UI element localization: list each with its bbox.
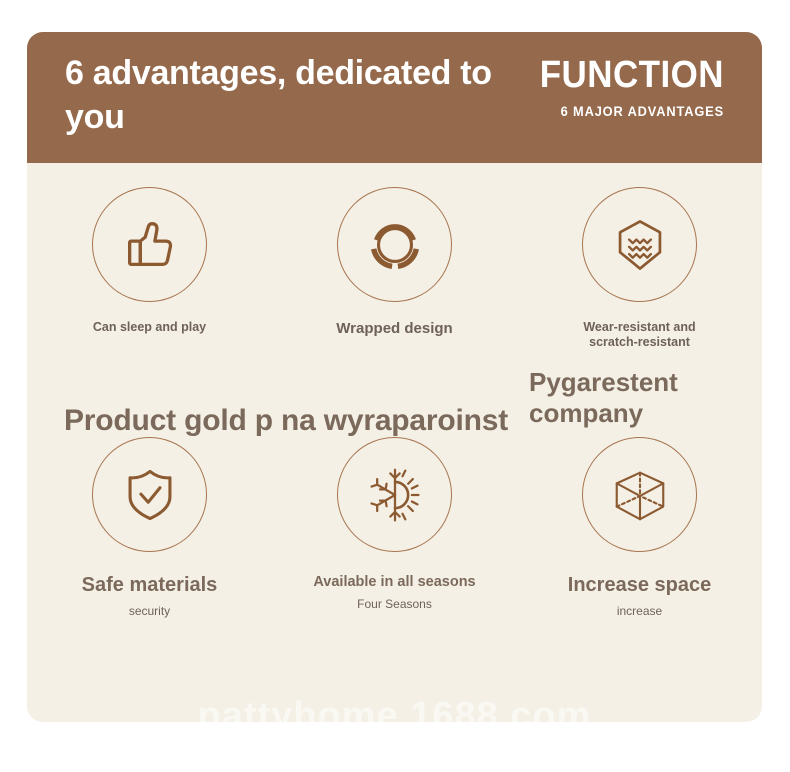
function-title: FUNCTION bbox=[503, 56, 724, 94]
feature-item-safe-materials: Safe materials security bbox=[27, 437, 272, 618]
overlay-headline-right: Pygarestent company bbox=[529, 367, 734, 428]
shield-check-icon-container bbox=[92, 437, 207, 552]
hexagon-shield-waves-icon bbox=[611, 216, 669, 274]
feature-subcaption: increase bbox=[617, 604, 662, 618]
thumbs-up-icon-container bbox=[92, 187, 207, 302]
feature-caption: Increase space bbox=[568, 574, 711, 598]
infographic-card: 6 advantages, dedicated to you FUNCTION … bbox=[27, 32, 762, 722]
feature-caption: Safe materials bbox=[82, 574, 218, 598]
feature-row-top: Can sleep and play Wrapped design bbox=[27, 187, 762, 350]
feature-caption: Available in all seasons bbox=[313, 574, 475, 591]
segmented-ring-icon bbox=[364, 214, 426, 276]
feature-subcaption: Four Seasons bbox=[357, 597, 432, 611]
overlay-headline-left: Product gold p na wyraparoinst bbox=[64, 404, 508, 438]
feature-item-all-seasons: Available in all seasons Four Seasons bbox=[272, 437, 517, 618]
wireframe-cube-icon bbox=[609, 464, 671, 526]
feature-item-wear-resistant: Wear-resistant and scratch-resistant bbox=[517, 187, 762, 350]
wireframe-cube-icon-container bbox=[582, 437, 697, 552]
shield-check-icon bbox=[121, 466, 179, 524]
feature-subcaption: security bbox=[129, 604, 170, 618]
feature-caption: Wear-resistant and scratch-resistant bbox=[583, 320, 695, 350]
card-header: 6 advantages, dedicated to you FUNCTION … bbox=[27, 32, 762, 163]
feature-caption: Wrapped design bbox=[336, 320, 452, 338]
watermark-text: pattyhome 1688.com bbox=[198, 695, 592, 722]
feature-row-bottom: Safe materials security bbox=[27, 437, 762, 618]
page-title: 6 advantages, dedicated to you bbox=[65, 52, 535, 139]
feature-caption: Can sleep and play bbox=[93, 320, 206, 335]
sun-snowflake-icon-container bbox=[337, 437, 452, 552]
header-right-block: FUNCTION 6 MAJOR ADVANTAGES bbox=[484, 56, 724, 119]
segmented-ring-icon-container bbox=[337, 187, 452, 302]
sun-snowflake-icon bbox=[365, 465, 425, 525]
feature-item-wrapped-design: Wrapped design bbox=[272, 187, 517, 350]
function-subtitle: 6 MAJOR ADVANTAGES bbox=[496, 104, 724, 119]
feature-item-can-sleep-and-play: Can sleep and play bbox=[27, 187, 272, 350]
feature-item-increase-space: Increase space increase bbox=[517, 437, 762, 618]
hexagon-shield-waves-icon-container bbox=[582, 187, 697, 302]
thumbs-up-icon bbox=[119, 214, 181, 276]
